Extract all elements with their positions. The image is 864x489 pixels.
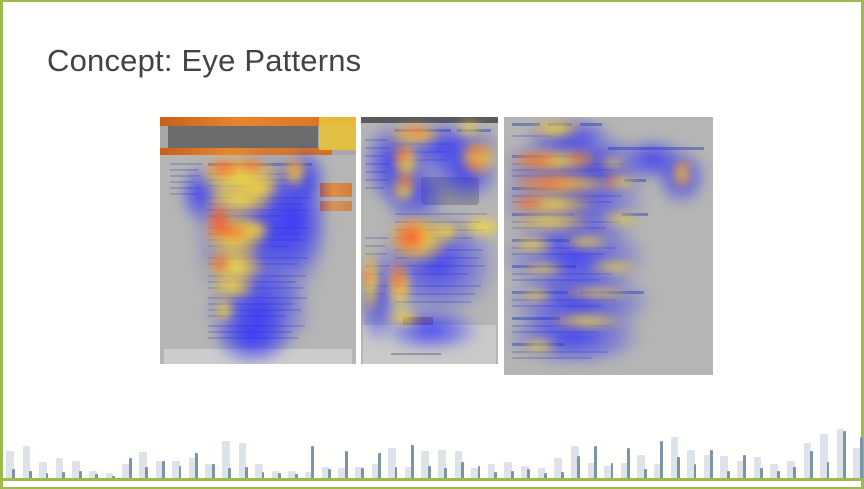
waveform-bar-narrow <box>461 462 464 478</box>
waveform-bar-narrow <box>627 448 630 478</box>
waveform-bar-narrow <box>810 451 813 478</box>
waveform-bar-narrow <box>212 464 215 478</box>
heatmap-panel-2 <box>361 117 498 364</box>
panel-1-gaze-heatmap <box>160 117 356 364</box>
audio-waveform-chart[interactable] <box>3 401 861 481</box>
waveform-bar-narrow <box>179 466 182 478</box>
waveform-bar-narrow <box>644 469 647 478</box>
waveform-bar-narrow <box>12 469 15 478</box>
waveform-bar-narrow <box>494 472 497 478</box>
waveform-bar-narrow <box>278 473 281 478</box>
waveform-bar-narrow <box>743 455 746 478</box>
waveform-bar-narrow <box>527 469 530 478</box>
slide-canvas: Concept: Eye Patterns <box>0 0 864 489</box>
heatmap-panel-1 <box>160 117 356 364</box>
waveform-bar-narrow <box>328 469 331 478</box>
waveform-bar-narrow <box>378 453 381 478</box>
waveform-bar-narrow <box>295 474 298 478</box>
panel-3-gaze-heatmap <box>504 117 713 375</box>
waveform-bar-narrow <box>694 464 697 478</box>
waveform-bar-narrow <box>561 472 564 478</box>
waveform-bar-narrow <box>710 450 713 478</box>
waveform-bar-narrow <box>395 467 398 478</box>
waveform-bar-narrow <box>428 466 431 478</box>
waveform-bar-narrow <box>843 431 846 478</box>
waveform-bar-narrow <box>62 472 65 478</box>
waveform-bar-narrow <box>245 467 248 478</box>
waveform-bar-narrow <box>860 437 863 478</box>
waveform-bar-narrow <box>793 467 796 478</box>
waveform-bar-narrow <box>411 445 414 478</box>
waveform-bar-narrow <box>827 462 830 478</box>
waveform-bar-narrow <box>162 461 165 478</box>
waveform-bar-narrow <box>660 441 663 478</box>
waveform-bar-narrow <box>311 446 314 478</box>
waveform-bar-narrow <box>228 468 231 478</box>
waveform-bar-narrow <box>145 467 148 478</box>
page-title: Concept: Eye Patterns <box>47 43 361 79</box>
waveform-bar-narrow <box>129 458 132 478</box>
waveform-bar-narrow <box>594 446 597 478</box>
waveform-bar-narrow <box>444 468 447 478</box>
waveform-bar-narrow <box>611 463 614 478</box>
waveform-bar-narrow <box>677 457 680 478</box>
waveform-bar-narrow <box>544 473 547 478</box>
waveform-bar-narrow <box>577 456 580 478</box>
waveform-bar-narrow <box>95 474 98 478</box>
waveform-bar-narrow <box>760 468 763 478</box>
waveform-baseline <box>3 478 861 481</box>
eye-tracking-heatmap-figure <box>160 117 713 379</box>
waveform-bar-narrow <box>79 471 82 478</box>
waveform-bar-narrow <box>195 453 198 478</box>
waveform-bar-narrow <box>112 476 115 478</box>
panel-2-gaze-heatmap <box>361 117 498 364</box>
waveform-bar-narrow <box>777 471 780 478</box>
waveform-bar-narrow <box>29 471 32 478</box>
heatmap-panel-3 <box>504 117 713 375</box>
waveform-bar-narrow <box>511 471 514 478</box>
waveform-bar-narrow <box>478 466 481 478</box>
waveform-bar-narrow <box>727 471 730 478</box>
waveform-bar-narrow <box>361 468 364 478</box>
waveform-bar-narrow <box>345 451 348 478</box>
